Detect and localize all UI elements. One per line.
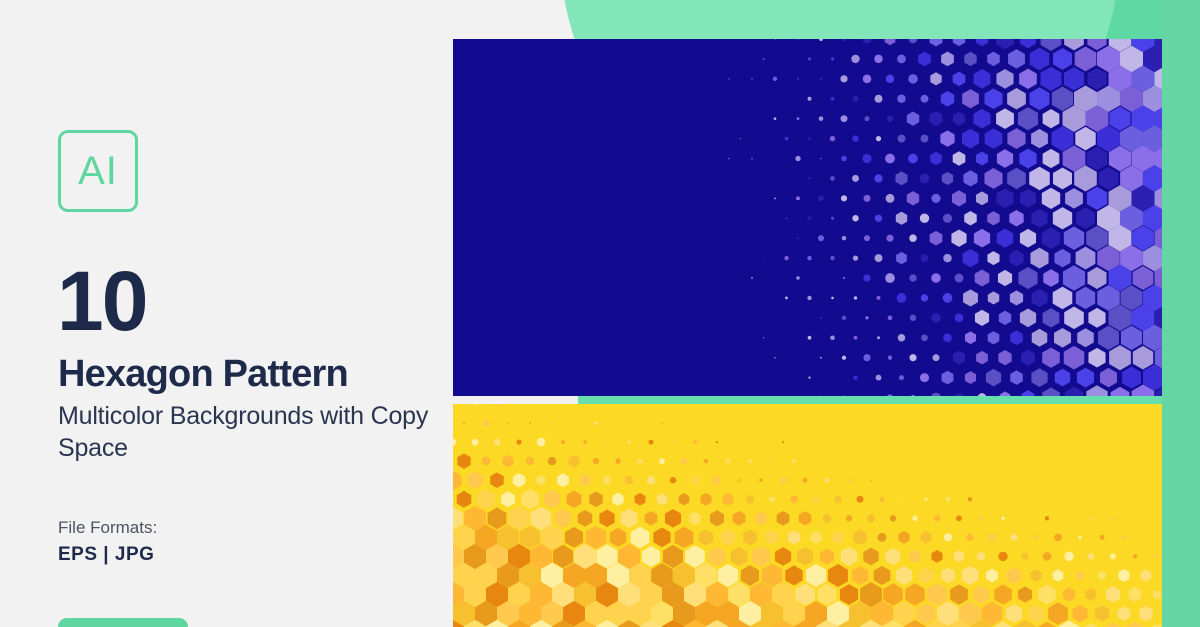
page-title: Hexagon Pattern — [58, 355, 348, 395]
yellow-hexagon-preview[interactable] — [453, 404, 1162, 627]
poster-canvas: AI 10 Hexagon Pattern Multicolor Backgro… — [0, 0, 1200, 627]
page-subtitle: Multicolor Backgrounds with Copy Space — [58, 400, 438, 464]
file-formats-label: File Formats: — [58, 515, 157, 541]
decorative-band-right — [1162, 0, 1200, 627]
blue-hexagon-preview[interactable] — [453, 39, 1162, 396]
item-count: 10 — [57, 259, 146, 343]
yellow-hexagon-pattern — [453, 404, 1162, 627]
info-column: AI 10 Hexagon Pattern Multicolor Backgro… — [0, 0, 453, 627]
cta-button[interactable] — [58, 618, 188, 627]
file-formats-value: EPS | JPG — [58, 541, 157, 569]
ai-format-badge: AI — [58, 130, 138, 212]
file-formats: File Formats: EPS | JPG — [58, 515, 157, 568]
ai-badge-label: AI — [78, 151, 118, 191]
blue-hexagon-pattern — [453, 39, 1162, 396]
